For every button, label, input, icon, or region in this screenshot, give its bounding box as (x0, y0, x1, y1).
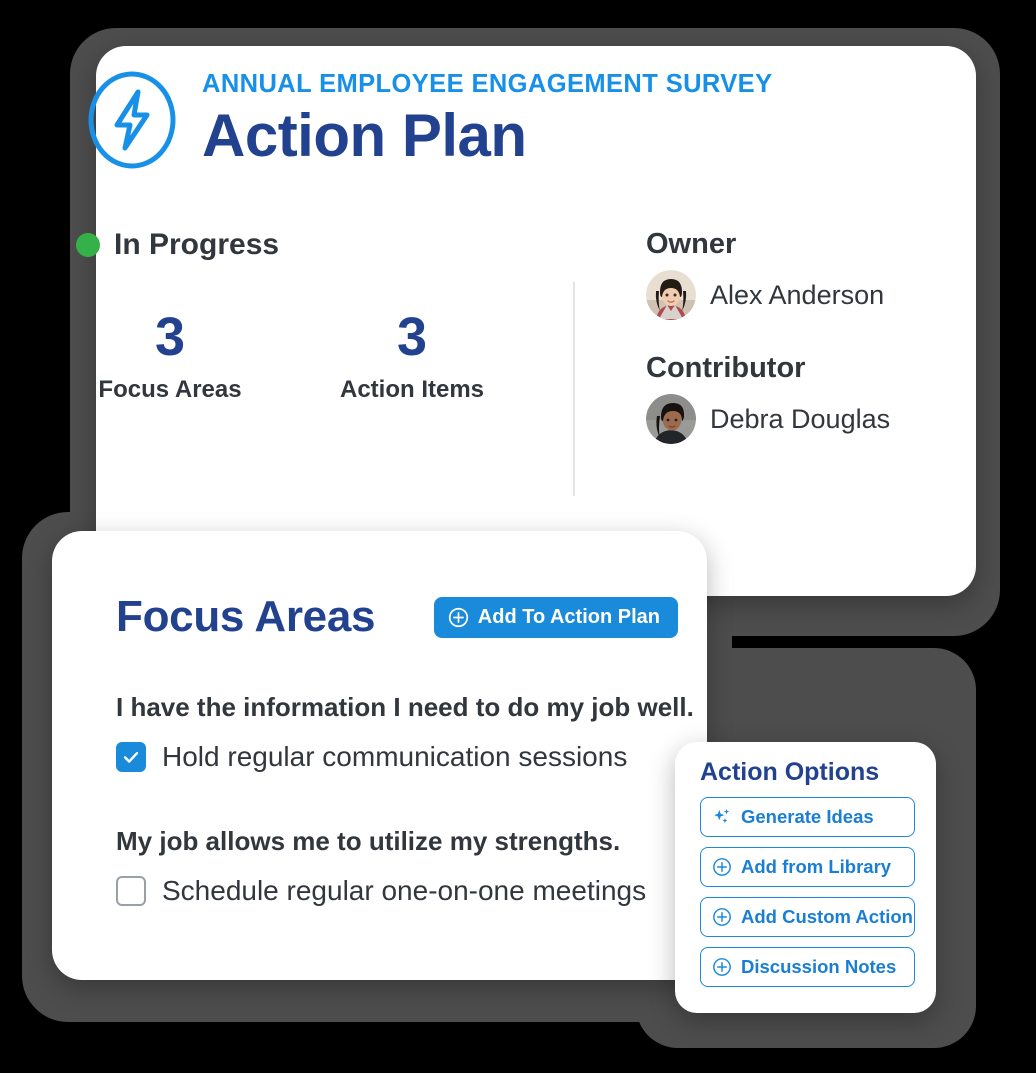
discussion-notes-button[interactable]: Discussion Notes (700, 947, 915, 987)
stats-row: 3 Focus Areas 3 Action Items (70, 310, 512, 404)
action-options-content: Action Options Generate Ideas Add from L… (700, 758, 915, 987)
contributor-role-label: Contributor (646, 352, 890, 385)
stat-action-items: 3 Action Items (312, 310, 512, 404)
survey-eyebrow: ANNUAL EMPLOYEE ENGAGEMENT SURVEY (202, 70, 773, 98)
discussion-notes-label: Discussion Notes (741, 956, 896, 978)
contributor-person: Debra Douglas (646, 394, 890, 444)
owner-role-label: Owner (646, 228, 890, 261)
stat-value: 3 (312, 310, 512, 364)
status-badge: In Progress (76, 228, 279, 262)
avatar (646, 394, 696, 444)
add-from-library-label: Add from Library (741, 856, 891, 878)
plus-circle-icon (712, 857, 732, 877)
stat-label: Action Items (312, 376, 512, 404)
action-item-label: Schedule regular one-on-one meetings (162, 875, 646, 907)
action-item-row[interactable]: Schedule regular one-on-one meetings (116, 875, 716, 907)
owner-name: Alex Anderson (710, 280, 884, 311)
focus-question-1: I have the information I need to do my j… (116, 692, 716, 773)
screenshot-root: ANNUAL EMPLOYEE ENGAGEMENT SURVEY Action… (0, 0, 1036, 1073)
question-text: I have the information I need to do my j… (116, 692, 716, 723)
focus-question-2: My job allows me to utilize my strengths… (116, 826, 716, 907)
focus-areas-header: Focus Areas Add To Action Plan (116, 592, 678, 642)
add-from-library-button[interactable]: Add from Library (700, 847, 915, 887)
status-label: In Progress (114, 228, 279, 262)
add-to-action-plan-button[interactable]: Add To Action Plan (434, 597, 678, 638)
generate-ideas-label: Generate Ideas (741, 806, 874, 828)
plus-circle-icon (712, 957, 732, 977)
people-section: Owner (646, 228, 890, 444)
generate-ideas-button[interactable]: Generate Ideas (700, 797, 915, 837)
checkbox-unchecked[interactable] (116, 876, 146, 906)
stat-value: 3 (70, 310, 270, 364)
question-text: My job allows me to utilize my strengths… (116, 826, 716, 857)
add-custom-action-button[interactable]: Add Custom Action (700, 897, 915, 937)
page-title: Action Plan (202, 102, 773, 169)
stat-label: Focus Areas (70, 376, 270, 404)
plus-circle-icon (712, 907, 732, 927)
add-to-action-plan-label: Add To Action Plan (478, 606, 660, 629)
focus-areas-title: Focus Areas (116, 592, 375, 642)
owner-person: Alex Anderson (646, 270, 890, 320)
avatar (646, 270, 696, 320)
add-custom-action-label: Add Custom Action (741, 906, 913, 928)
card-header: ANNUAL EMPLOYEE ENGAGEMENT SURVEY Action… (84, 68, 773, 172)
column-divider (573, 282, 575, 496)
spacer (646, 320, 890, 352)
lightning-bolt-circle-icon (84, 68, 180, 172)
action-options-title: Action Options (700, 758, 915, 787)
checkbox-checked[interactable] (116, 742, 146, 772)
stat-focus-areas: 3 Focus Areas (70, 310, 270, 404)
action-item-row[interactable]: Hold regular communication sessions (116, 741, 716, 773)
plus-circle-icon (448, 607, 469, 628)
action-item-label: Hold regular communication sessions (162, 741, 627, 773)
contributor-name: Debra Douglas (710, 404, 890, 435)
sparkle-icon (712, 807, 732, 827)
status-dot-icon (76, 233, 100, 257)
